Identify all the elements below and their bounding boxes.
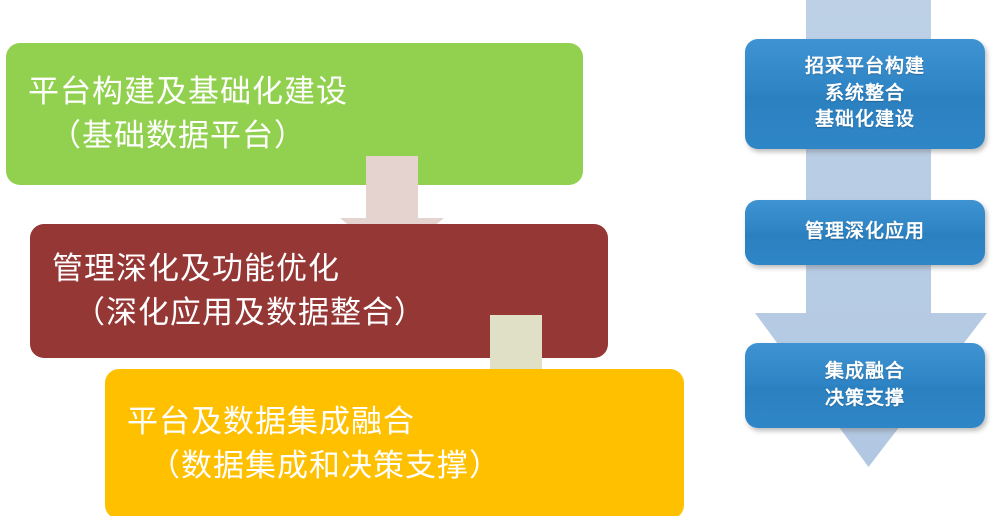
stage-line: （数据集成和决策支撑）	[127, 444, 684, 488]
stage-line: （基础数据平台）	[28, 114, 583, 158]
stage-box-platform-data-integration[interactable]: 平台及数据集成融合 （数据集成和决策支撑）	[105, 369, 684, 516]
pill-management-deep-app[interactable]: 管理深化应用	[745, 200, 985, 265]
stage-box-platform-construction[interactable]: 平台构建及基础化建设 （基础数据平台）	[6, 43, 583, 185]
diagram-canvas: 招采平台构建 系统整合 基础化建设 管理深化应用 集成融合 决策支撑 平台构建及…	[0, 0, 999, 516]
stage-line: 平台及数据集成融合	[127, 400, 684, 444]
pill-line: 系统整合	[825, 81, 905, 108]
pill-integration-decision[interactable]: 集成融合 决策支撑	[745, 343, 985, 428]
pill-line: 集成融合	[825, 359, 905, 386]
pill-procurement-platform[interactable]: 招采平台构建 系统整合 基础化建设	[745, 39, 985, 149]
pill-line: 决策支撑	[825, 386, 905, 413]
pill-line: 招采平台构建	[805, 54, 925, 81]
stage-line: 管理深化及功能优化	[52, 247, 608, 291]
pill-line: 管理深化应用	[805, 219, 925, 246]
stage-line: 平台构建及基础化建设	[28, 70, 583, 114]
pill-line: 基础化建设	[815, 107, 915, 134]
